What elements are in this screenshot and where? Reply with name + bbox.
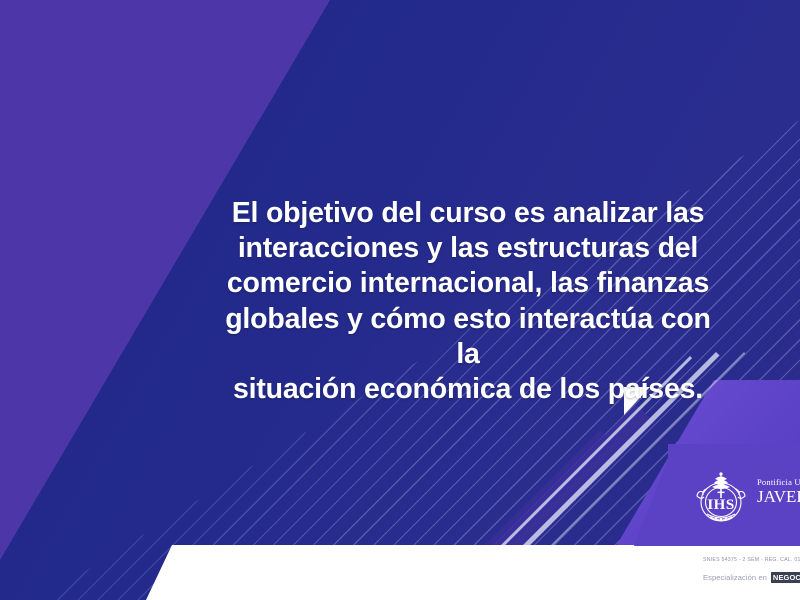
- footer-white-band-extension: [146, 545, 800, 600]
- svg-text:IHS: IHS: [707, 497, 734, 513]
- presentation-slide: IHS Pontificia Universidad JAVERIANA El …: [0, 0, 800, 600]
- university-name-line1: Pontificia Universidad: [757, 478, 800, 487]
- program-prefix: Especialización en: [703, 573, 767, 582]
- university-name-line2: JAVERIANA: [757, 488, 800, 506]
- slide-headline: El objetivo del curso es analizar las in…: [218, 196, 718, 407]
- accreditation-text: SNIES 54375 - 2 SEM - REG. CAL. 014482: [703, 557, 800, 563]
- university-name: Pontificia Universidad JAVERIANA: [757, 478, 800, 506]
- ihs-jesuit-crest-icon: IHS: [690, 468, 752, 530]
- program-badge: NEGOCIOS INTERNACIONALES: [771, 572, 800, 583]
- program-label-row: Especialización en NEGOCIOS INTERNACIONA…: [703, 572, 800, 583]
